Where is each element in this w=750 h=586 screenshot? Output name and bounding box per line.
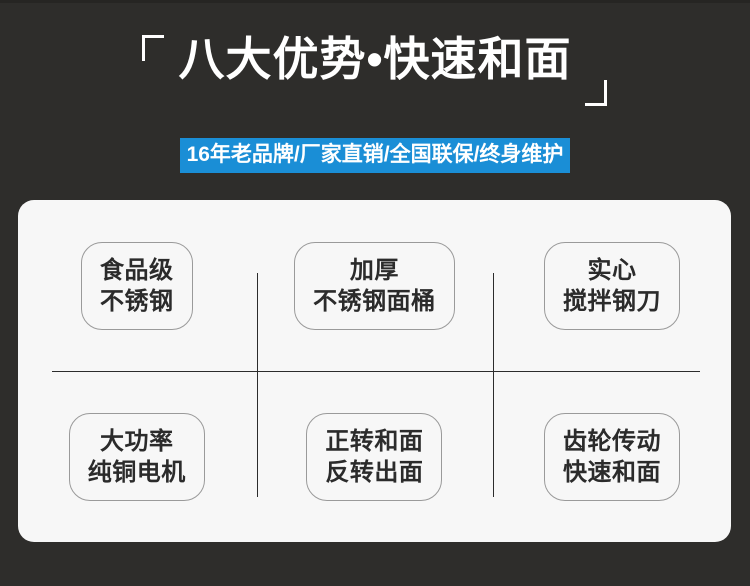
title-row: 八大优势•快速和面	[140, 28, 610, 106]
feature-cell: 大功率 纯铜电机	[18, 371, 256, 542]
feature-cell: 正转和面 反转出面	[256, 371, 494, 542]
features-panel: 食品级 不锈钢 加厚 不锈钢面桶 实心 搅拌钢刀 大功率 纯铜	[18, 200, 731, 542]
promo-banner-page: 八大优势•快速和面 16年老品牌/厂家直销/全国联保/终身维护 食品级 不锈钢 …	[0, 0, 750, 586]
feature-card: 齿轮传动 快速和面	[544, 413, 680, 501]
feature-cell: 齿轮传动 快速和面	[493, 371, 731, 542]
bracket-open-icon	[142, 35, 164, 61]
feature-cell: 实心 搅拌钢刀	[493, 200, 731, 371]
feature-line-2: 搅拌钢刀	[563, 286, 661, 317]
feature-line-2: 不锈钢面桶	[313, 286, 436, 317]
features-grid: 食品级 不锈钢 加厚 不锈钢面桶 实心 搅拌钢刀 大功率 纯铜	[18, 200, 731, 542]
feature-card: 加厚 不锈钢面桶	[294, 242, 455, 330]
feature-card: 食品级 不锈钢	[81, 242, 193, 330]
feature-card: 实心 搅拌钢刀	[544, 242, 680, 330]
feature-line-2: 纯铜电机	[88, 457, 186, 488]
feature-line-2: 不锈钢	[100, 286, 174, 317]
page-title: 八大优势•快速和面	[168, 28, 582, 90]
feature-cell: 食品级 不锈钢	[18, 200, 256, 371]
feature-cell: 加厚 不锈钢面桶	[256, 200, 494, 371]
feature-line-1: 齿轮传动	[563, 426, 661, 457]
header-section: 八大优势•快速和面 16年老品牌/厂家直销/全国联保/终身维护	[0, 28, 750, 168]
feature-card: 正转和面 反转出面	[306, 413, 442, 501]
top-edge-line	[0, 0, 750, 3]
feature-card: 大功率 纯铜电机	[69, 413, 205, 501]
subtitle-badge: 16年老品牌/厂家直销/全国联保/终身维护	[180, 138, 571, 173]
feature-line-1: 大功率	[88, 426, 186, 457]
feature-line-1: 正转和面	[325, 426, 423, 457]
feature-line-1: 食品级	[100, 255, 174, 286]
feature-line-1: 实心	[563, 255, 661, 286]
bracket-close-icon	[585, 80, 607, 106]
subtitle-row: 16年老品牌/厂家直销/全国联保/终身维护	[0, 138, 750, 173]
feature-line-2: 反转出面	[325, 457, 423, 488]
feature-line-1: 加厚	[313, 255, 436, 286]
feature-line-2: 快速和面	[563, 457, 661, 488]
